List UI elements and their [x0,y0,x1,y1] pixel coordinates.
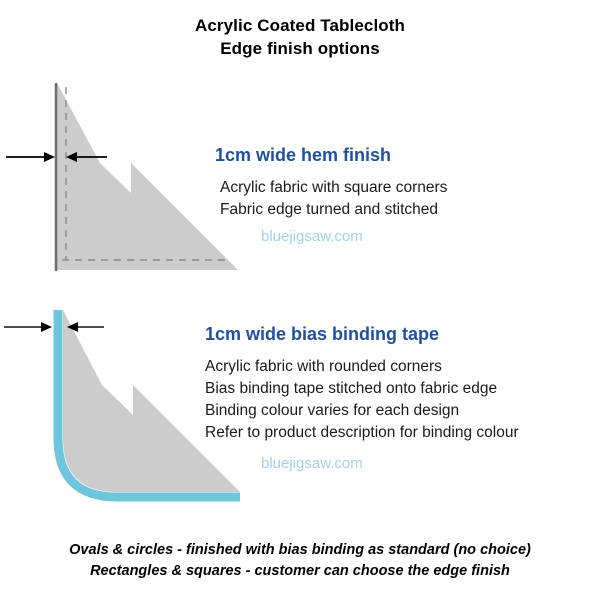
edge-finish-options-infographic: Acrylic Coated Tablecloth Edge finish op… [0,0,600,600]
bias-binding-text-block: 1cm wide bias binding tape Acrylic fabri… [205,322,600,475]
measure-arrow-left [6,152,55,162]
bias-binding-body-line-1: Acrylic fabric with rounded corners [205,356,600,378]
hem-finish-heading: 1cm wide hem finish [215,143,600,167]
bias-binding-body: Acrylic fabric with rounded corners Bias… [205,356,600,444]
footer-line-1: Ovals & circles - finished with bias bin… [0,540,600,561]
bias-binding-body-line-2: Bias binding tape stitched onto fabric e… [205,378,600,400]
hem-finish-body-line-2: Fabric edge turned and stitched [220,199,600,221]
bias-binding-body-line-4: Refer to product description for binding… [205,422,600,444]
brand-label-bias: bluejigsaw.com [261,453,600,475]
hem-finish-body: Acrylic fabric with square corners Fabri… [220,177,600,221]
hem-finish-text-block: 1cm wide hem finish Acrylic fabric with … [208,143,600,248]
page-title: Acrylic Coated Tablecloth Edge finish op… [0,14,600,60]
measure-arrow-left [4,322,52,332]
bias-binding-heading: 1cm wide bias binding tape [205,322,600,346]
bias-binding-body-line-3: Binding colour varies for each design [205,400,600,422]
title-line-2: Edge finish options [0,37,600,60]
footer-line-2: Rectangles & squares - customer can choo… [0,561,600,582]
brand-label-hem: bluejigsaw.com [261,226,600,248]
hem-finish-body-line-1: Acrylic fabric with square corners [220,177,600,199]
footer-note: Ovals & circles - finished with bias bin… [0,540,600,582]
title-line-1: Acrylic Coated Tablecloth [0,14,600,37]
